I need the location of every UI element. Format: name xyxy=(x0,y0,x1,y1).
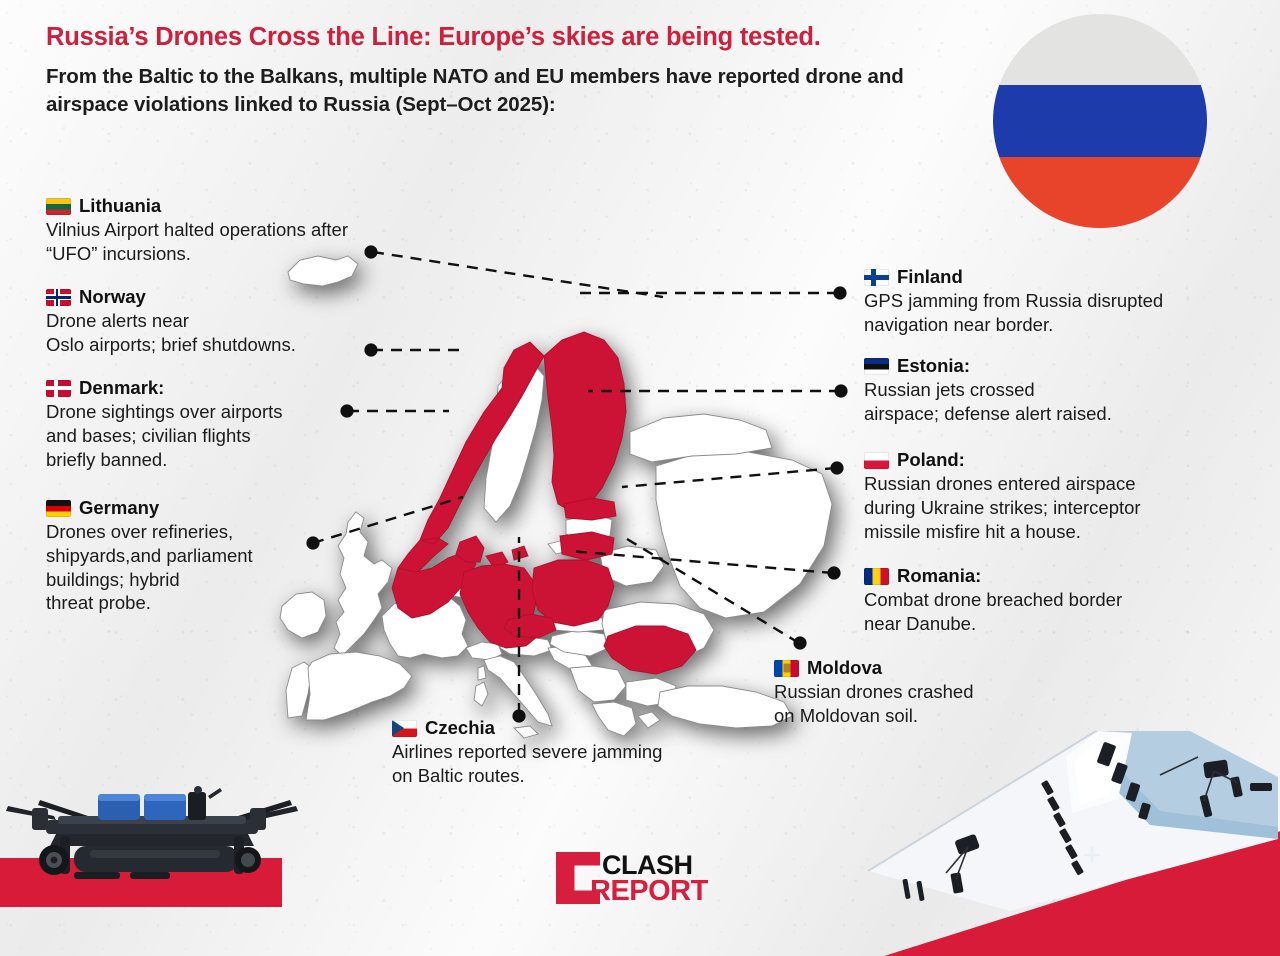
flag-stripe-white xyxy=(993,14,1207,85)
callout-header: Czechia xyxy=(392,718,792,738)
flag-romania-icon xyxy=(864,568,889,585)
callout-country: Poland: xyxy=(897,450,965,470)
callout-country: Finland xyxy=(897,267,963,287)
callout-text: Drones over refineries, shipyards,and pa… xyxy=(46,520,346,615)
flag-moldova-icon xyxy=(774,660,799,677)
flag-norway-icon xyxy=(46,289,71,306)
page-title: Russia’s Drones Cross the Line: Europe’s… xyxy=(46,22,976,52)
callout-header: Finland xyxy=(864,267,1264,287)
flag-stripe-red xyxy=(993,157,1207,228)
callout-header: Norway xyxy=(46,287,376,307)
callout-country: Lithuania xyxy=(79,196,161,216)
callout-denmark[interactable]: Denmark: Drone sightings over airports a… xyxy=(46,378,366,471)
callout-country: Denmark: xyxy=(79,378,164,398)
callout-header: Estonia: xyxy=(864,356,1244,376)
callout-text: GPS jamming from Russia disrupted naviga… xyxy=(864,289,1264,336)
callout-country: Estonia: xyxy=(897,356,970,376)
flag-germany-icon xyxy=(46,500,71,517)
callout-header: Denmark: xyxy=(46,378,366,398)
quadcopter-drone-photo xyxy=(2,786,302,882)
flying-wing-drone-photo xyxy=(860,721,1280,936)
callout-moldova[interactable]: Moldova Russian drones crashed on Moldov… xyxy=(774,658,1114,728)
map-italy xyxy=(484,656,552,726)
flag-stripe-blue xyxy=(993,85,1207,156)
title-highlight: Russia’s Drones Cross the Line: xyxy=(46,23,431,51)
title-rest: Europe’s skies are being tested. xyxy=(431,23,820,51)
callout-header: Lithuania xyxy=(46,196,446,216)
callout-text: Vilnius Airport halted operations after … xyxy=(46,218,446,265)
flag-estonia-icon xyxy=(864,358,889,375)
callout-norway[interactable]: Norway Drone alerts near Oslo airports; … xyxy=(46,287,376,357)
flag-czechia-icon xyxy=(392,720,417,737)
map-corsica xyxy=(478,666,486,680)
callout-poland[interactable]: Poland: Russian drones entered airspace … xyxy=(864,450,1264,543)
callout-romania[interactable]: Romania: Combat drone breached border ne… xyxy=(864,566,1244,636)
flag-lithuania-icon xyxy=(46,198,71,215)
callout-estonia[interactable]: Estonia: Russian jets crossed airspace; … xyxy=(864,356,1244,426)
callout-header: Romania: xyxy=(864,566,1244,586)
map-russia-west xyxy=(656,452,832,618)
callout-finland[interactable]: Finland GPS jamming from Russia disrupte… xyxy=(864,267,1264,337)
callout-germany[interactable]: Germany Drones over refineries, shipyard… xyxy=(46,498,346,615)
map-poland-highlight xyxy=(532,560,614,626)
callout-country: Romania: xyxy=(897,566,981,586)
callout-country: Czechia xyxy=(425,718,495,738)
callout-country: Germany xyxy=(79,498,159,518)
callout-header: Germany xyxy=(46,498,346,518)
map-spain xyxy=(306,652,412,720)
callout-czechia[interactable]: Czechia Airlines reported severe jamming… xyxy=(392,718,792,788)
flag-poland-icon xyxy=(864,452,889,469)
russia-flag-circle-icon xyxy=(993,14,1207,228)
flag-finland-icon xyxy=(864,269,889,286)
map-lithuania-highlight xyxy=(560,532,614,560)
logo-word-report: REPORT xyxy=(590,875,708,908)
header: Russia’s Drones Cross the Line: Europe’s… xyxy=(46,22,976,120)
callout-lithuania[interactable]: Lithuania Vilnius Airport halted operati… xyxy=(46,196,446,266)
callout-country: Moldova xyxy=(807,658,882,678)
map-finland-highlight xyxy=(544,332,626,512)
callout-text: Combat drone breached border near Danube… xyxy=(864,588,1244,635)
map-bosnia-serbia xyxy=(570,666,626,702)
callout-country: Norway xyxy=(79,287,146,307)
callout-header: Moldova xyxy=(774,658,1114,678)
callout-text: Drone alerts near Oslo airports; brief s… xyxy=(46,309,376,356)
infographic-canvas: Russia’s Drones Cross the Line: Europe’s… xyxy=(0,0,1280,956)
callout-text: Airlines reported severe jamming on Balt… xyxy=(392,740,792,787)
clash-report-logo[interactable]: CLASH REPORT xyxy=(556,848,726,910)
callout-text: Drone sightings over airports and bases;… xyxy=(46,400,366,471)
page-subtitle: From the Baltic to the Balkans, multiple… xyxy=(46,63,976,120)
callout-text: Russian jets crossed airspace; defense a… xyxy=(864,378,1244,425)
callout-text: Russian drones entered airspace during U… xyxy=(864,472,1264,543)
map-romania-highlight xyxy=(604,626,696,674)
callout-header: Poland: xyxy=(864,450,1264,470)
flag-denmark-icon xyxy=(46,380,71,397)
map-sardinia xyxy=(474,682,488,706)
